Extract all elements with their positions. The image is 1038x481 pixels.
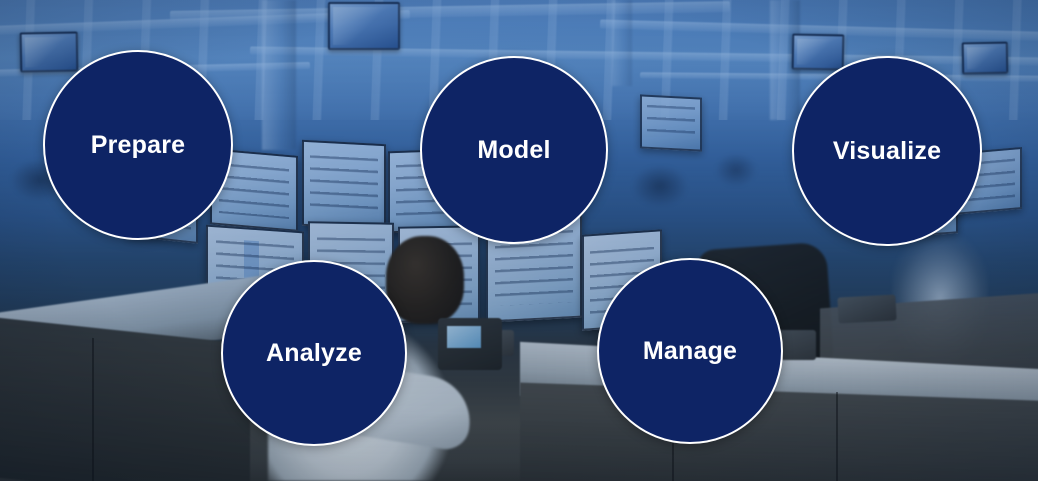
circle-label-manage: Manage	[643, 339, 737, 364]
slide-canvas: Prepare Model Visualize Analyze Manage	[0, 0, 1038, 481]
circle-label-model: Model	[477, 138, 550, 163]
circle-label-analyze: Analyze	[266, 341, 362, 366]
circle-label-prepare: Prepare	[91, 133, 186, 158]
circle-visualize[interactable]: Visualize	[792, 56, 982, 246]
circle-model[interactable]: Model	[420, 56, 608, 244]
circle-label-visualize: Visualize	[833, 139, 941, 164]
circle-prepare[interactable]: Prepare	[43, 50, 233, 240]
circle-analyze[interactable]: Analyze	[221, 260, 407, 446]
circle-manage[interactable]: Manage	[597, 258, 783, 444]
